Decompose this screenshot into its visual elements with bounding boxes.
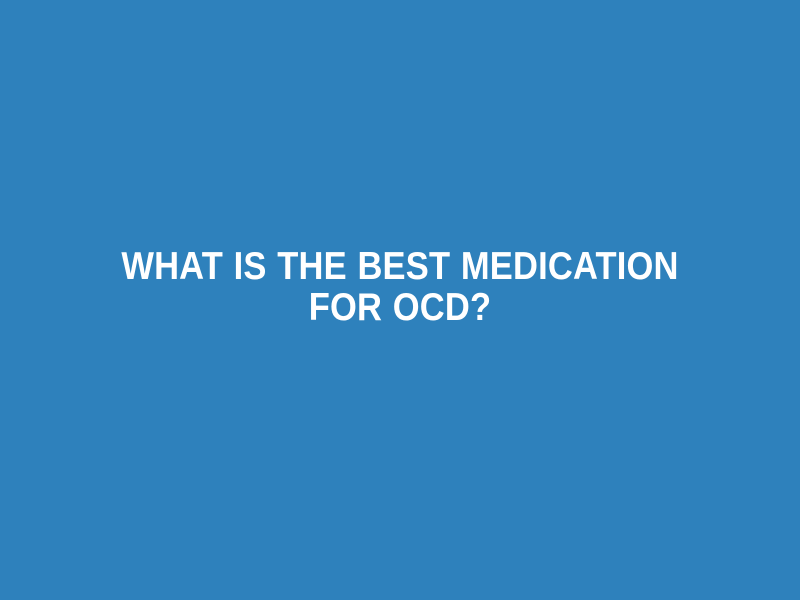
page-title: What is the Best Medication for OCD? <box>117 246 683 328</box>
banner-title-block: What is the Best Medication for OCD? <box>80 246 720 328</box>
article-hero-banner: What is the Best Medication for OCD? <box>0 0 800 600</box>
